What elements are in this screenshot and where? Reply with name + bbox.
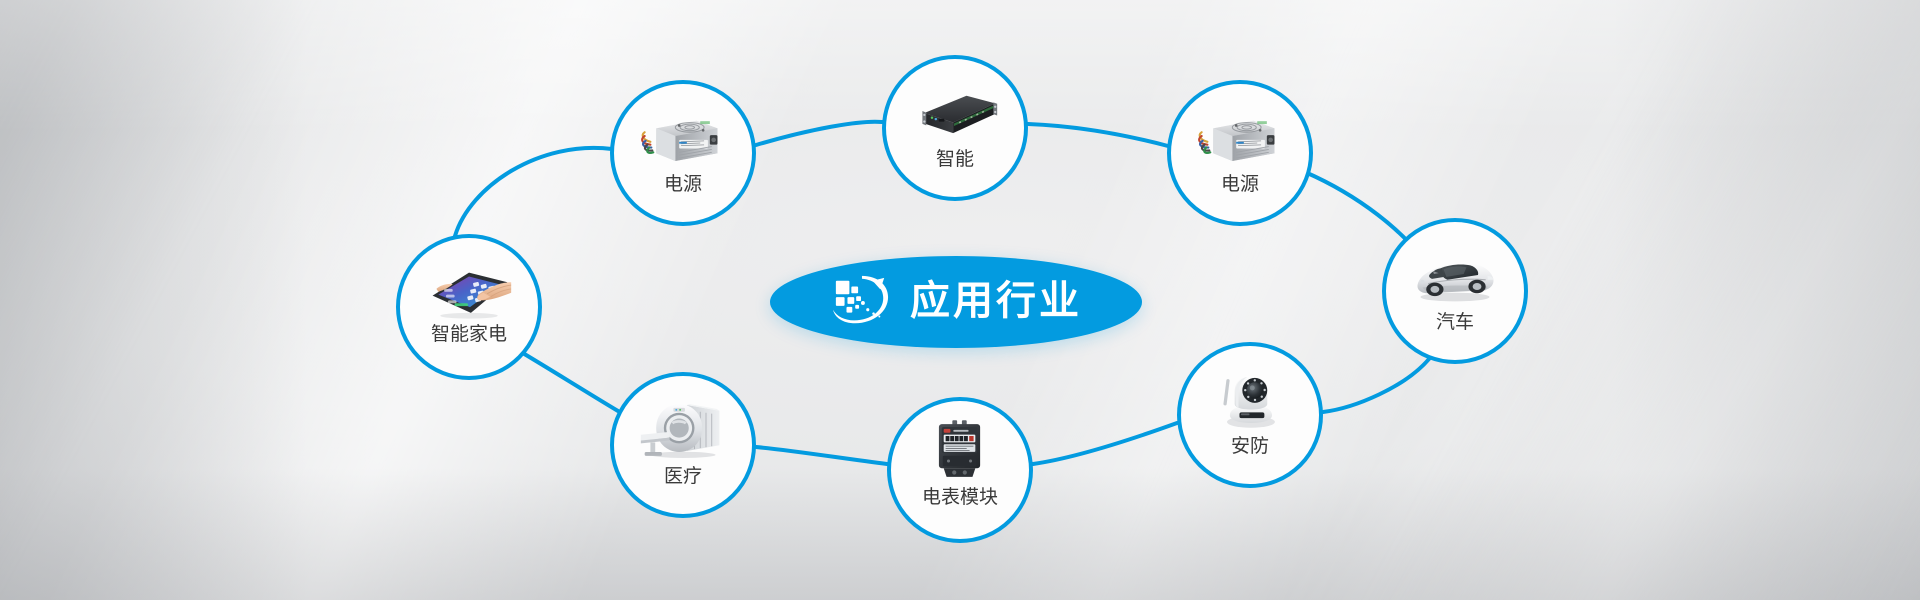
ip-camera-icon [1204, 364, 1296, 434]
industry-node-label: 医疗 [664, 466, 702, 487]
connector-meter-module-to-medical [756, 447, 887, 464]
industry-node-label: 电源 [664, 174, 702, 195]
industry-node-smart[interactable]: 智能 [882, 55, 1028, 201]
electricity-meter-icon [914, 415, 1006, 485]
connector-smart-home-to-power-left [455, 148, 612, 236]
industry-node-label: 汽车 [1436, 312, 1474, 333]
pc-power-supply-icon [1194, 102, 1286, 172]
industry-node-label: 电源 [1221, 174, 1259, 195]
sports-car-icon [1409, 240, 1501, 310]
industry-node-automotive[interactable]: 汽车 [1382, 218, 1528, 364]
connector-power-left-to-smart [756, 122, 882, 145]
industry-node-medical[interactable]: 医疗 [610, 372, 756, 518]
industry-node-label: 智能家电 [431, 324, 507, 345]
industry-node-smart-home[interactable]: 智能家电 [396, 234, 542, 380]
connector-automotive-to-security [1323, 359, 1429, 412]
application-industries-banner: 应用行业 [0, 0, 1920, 600]
industry-node-meter-module[interactable]: 电表模块 [887, 397, 1033, 543]
tablet-touch-hand-icon [423, 252, 515, 322]
connector-smart-to-power-right [1028, 124, 1168, 146]
connector-security-to-meter-module [1033, 423, 1177, 464]
industry-node-label: 电表模块 [922, 487, 998, 508]
industry-node-label: 安防 [1231, 436, 1269, 457]
center-badge-title: 应用行业 [910, 281, 1082, 323]
pixel-swoosh-logo-icon [830, 273, 892, 331]
rack-server-icon [909, 77, 1001, 147]
industry-node-security[interactable]: 安防 [1177, 342, 1323, 488]
industry-node-label: 智能 [936, 149, 974, 170]
industry-node-power-right[interactable]: 电源 [1167, 80, 1313, 226]
center-badge: 应用行业 [770, 256, 1142, 348]
mri-scanner-icon [637, 394, 729, 464]
industry-node-power-left[interactable]: 电源 [610, 80, 756, 226]
pc-power-supply-icon [637, 102, 729, 172]
